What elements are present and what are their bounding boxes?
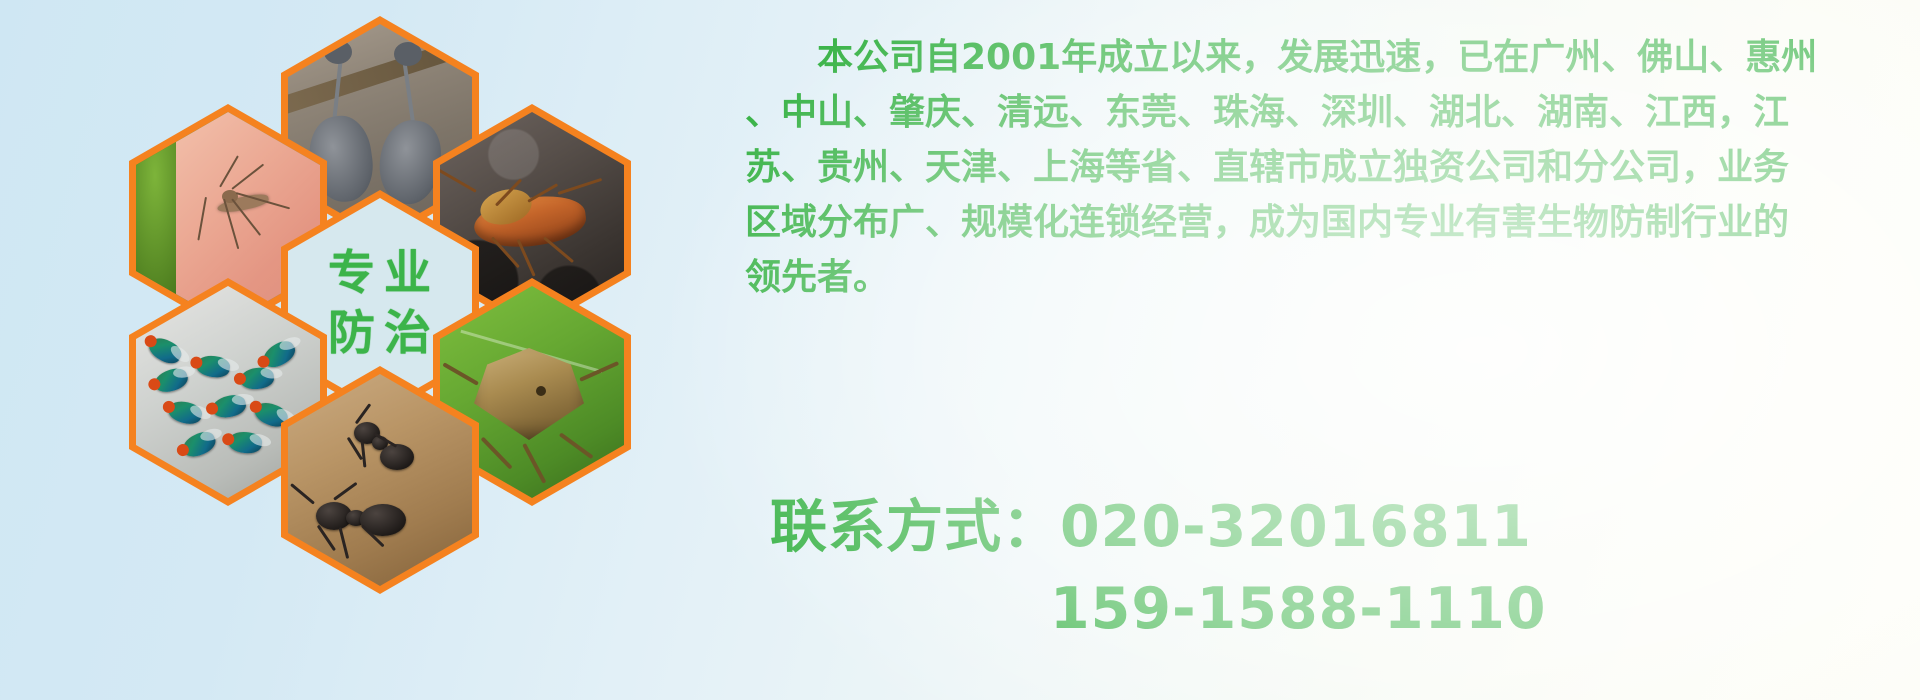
ants-photo <box>288 374 472 586</box>
company-intro-paragraph: 本公司自2001年成立以来，发展迅速，已在广州、佛山、惠州 、中山、肇庆、清远、… <box>745 30 1885 305</box>
intro-line-2: 、中山、肇庆、清远、东莞、珠海、深圳、湖北、湖南、江西，江 <box>745 85 1885 140</box>
contact-mobile-line[interactable]: 159-1588-1110 <box>770 568 1890 650</box>
promo-banner: 专业 防治 <box>0 0 1920 700</box>
center-label-line-1: 专业 <box>328 244 440 304</box>
honeycomb-image-cluster: 专业 防治 <box>95 0 695 700</box>
contact-block: 联系方式：020-32016811 159-1588-1110 <box>770 486 1890 650</box>
contact-landline-line[interactable]: 联系方式：020-32016811 <box>770 486 1890 568</box>
intro-line-3: 苏、贵州、天津、上海等省、直辖市成立独资公司和分公司，业务 <box>745 140 1885 195</box>
intro-line-5: 领先者。 <box>745 250 1885 305</box>
intro-line-1: 本公司自2001年成立以来，发展迅速，已在广州、佛山、惠州 <box>745 30 1885 85</box>
intro-line-4: 区域分布广、规模化连锁经营，成为国内专业有害生物防制行业的 <box>745 195 1885 250</box>
center-label-line-2: 防治 <box>328 304 440 364</box>
honeycomb-center-label: 专业 防治 <box>320 244 440 364</box>
